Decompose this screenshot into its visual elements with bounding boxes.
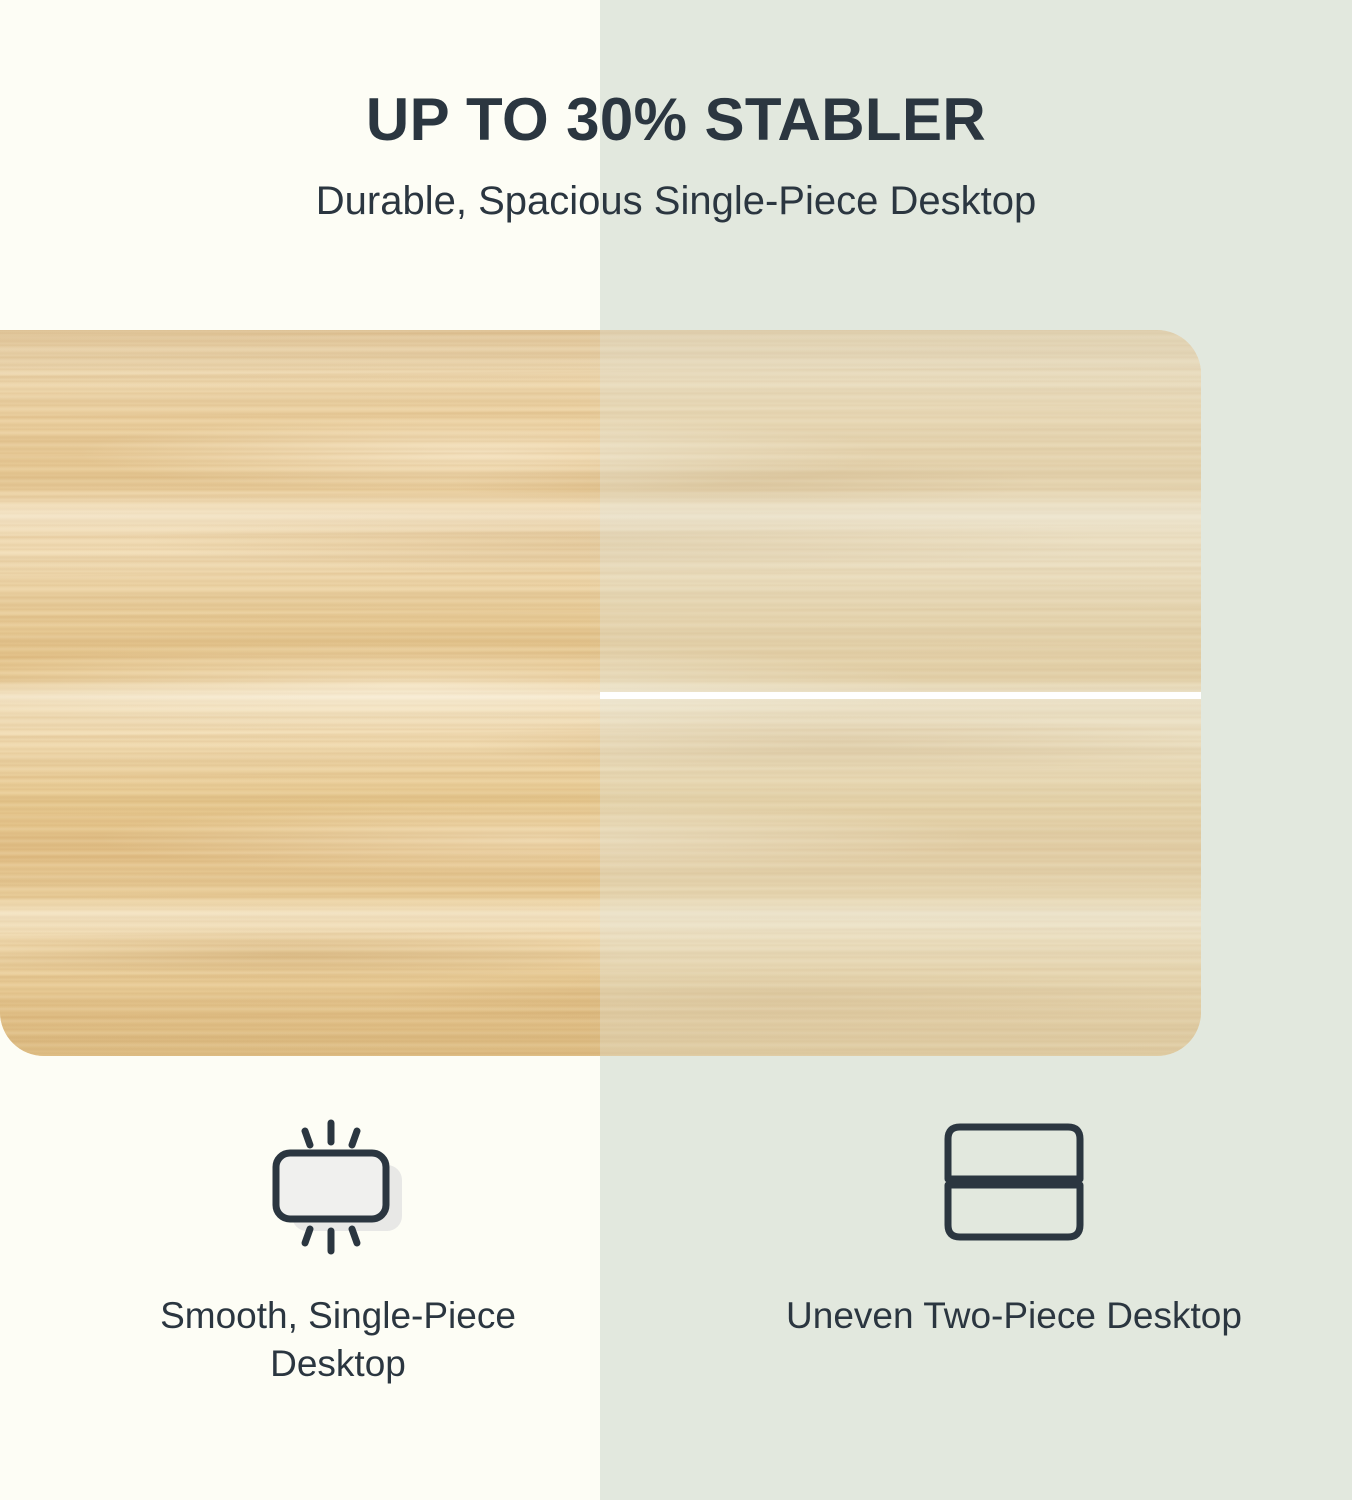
wood-desktop-panel [0, 330, 1201, 1056]
feature-single-piece: Smooth, Single-Piece Desktop [0, 1110, 676, 1440]
feature-single-piece-caption: Smooth, Single-Piece Desktop [103, 1292, 573, 1388]
wood-vignette [0, 330, 1201, 1056]
single-piece-desktop-sparkle-icon [258, 1115, 418, 1265]
feature-two-piece: Uneven Two-Piece Desktop [676, 1110, 1352, 1440]
page-subtitle: Durable, Spacious Single-Piece Desktop [0, 178, 1352, 224]
page-title: UP TO 30% STABLER [0, 88, 1352, 151]
wood-panel-surface [0, 330, 1201, 1056]
feature-comparison-row: Smooth, Single-Piece Desktop Uneven Two-… [0, 1110, 1352, 1440]
two-piece-desktop-seam-icon [934, 1115, 1094, 1265]
two-piece-icon-wrap [934, 1110, 1094, 1270]
feature-two-piece-caption: Uneven Two-Piece Desktop [786, 1292, 1242, 1340]
single-piece-icon-wrap [258, 1110, 418, 1270]
